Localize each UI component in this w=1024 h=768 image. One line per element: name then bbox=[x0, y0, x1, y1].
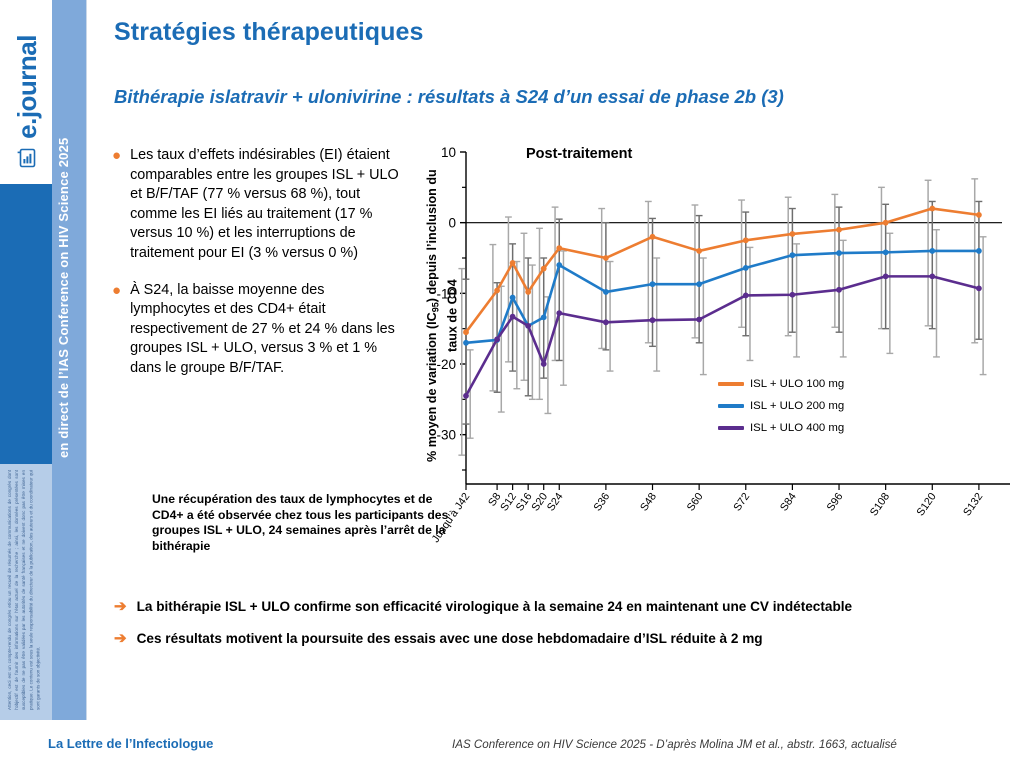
svg-text:-20: -20 bbox=[436, 357, 456, 372]
legend-swatch-200mg bbox=[718, 404, 744, 408]
left-sidebar: e.journal en direct de l’IAS Conference … bbox=[0, 0, 86, 768]
svg-text:10: 10 bbox=[441, 145, 456, 160]
bullet-dot-icon: ● bbox=[112, 281, 121, 379]
conclusion-text: Ces résultats motivent la poursuite des … bbox=[137, 630, 763, 648]
ejournal-logo: e.journal bbox=[6, 14, 48, 174]
page-title: Stratégies thérapeutiques bbox=[114, 18, 424, 47]
highlight-note: Une récupération des taux de lymphocytes… bbox=[152, 492, 452, 554]
bullet-dot-icon: ● bbox=[112, 146, 121, 264]
list-item: ● Les taux d’effets indésirables (EI) ét… bbox=[112, 146, 402, 264]
chart-legend: ISL + ULO 100 mg ISL + ULO 200 mg ISL + … bbox=[718, 378, 844, 444]
footer-brand: La Lettre de l’Infectiologue bbox=[48, 736, 213, 751]
legend-label-200mg: ISL + ULO 200 mg bbox=[750, 400, 844, 412]
svg-text:Jusqu’à J42: Jusqu’à J42 bbox=[430, 491, 473, 545]
legend-item: ISL + ULO 400 mg bbox=[718, 422, 844, 434]
svg-text:S96: S96 bbox=[825, 491, 846, 514]
ejournal-wordmark: e.journal bbox=[14, 35, 40, 139]
legend-label-400mg: ISL + ULO 400 mg bbox=[750, 422, 844, 434]
footer-divider bbox=[0, 720, 1024, 721]
svg-text:S120: S120 bbox=[914, 491, 938, 519]
legend-swatch-400mg bbox=[718, 426, 744, 430]
footer-source: IAS Conference on HIV Science 2025 - D’a… bbox=[452, 738, 897, 751]
bullet-text: Les taux d’effets indésirables (EI) étai… bbox=[130, 146, 402, 264]
page-subtitle: Bithérapie islatravir + ulonivirine : ré… bbox=[114, 86, 1014, 108]
svg-text:S84: S84 bbox=[778, 491, 799, 514]
svg-text:S24: S24 bbox=[545, 491, 566, 514]
svg-text:S132: S132 bbox=[961, 491, 985, 519]
svg-text:-10: -10 bbox=[436, 286, 456, 301]
conference-vertical-label: en direct de l’IAS Conference on HIV Sci… bbox=[56, 8, 71, 458]
svg-text:S48: S48 bbox=[638, 491, 659, 514]
document-chart-icon bbox=[16, 147, 38, 174]
sidebar-blue-block bbox=[0, 184, 52, 464]
legend-item: ISL + ULO 100 mg bbox=[718, 378, 844, 390]
chart-canvas: 100-10-20-30Jusqu’à J42S8S12S16S20S24S36… bbox=[418, 140, 1018, 550]
list-item: ● À S24, la baisse moyenne des lymphocyt… bbox=[112, 281, 402, 379]
conclusion-text: La bithérapie ISL + ULO confirme son eff… bbox=[137, 598, 853, 616]
svg-text:0: 0 bbox=[448, 216, 456, 231]
arrow-right-icon: ➔ bbox=[114, 598, 127, 616]
svg-text:-30: -30 bbox=[436, 428, 456, 443]
cd4-change-chart: Post-traitement % moyen de variation (IC… bbox=[418, 140, 1018, 550]
arrow-right-icon: ➔ bbox=[114, 630, 127, 648]
svg-text:S108: S108 bbox=[868, 491, 892, 519]
svg-text:S60: S60 bbox=[685, 491, 706, 514]
svg-text:S36: S36 bbox=[591, 491, 612, 514]
disclaimer-vertical-text: Attention, ceci est un compte-rendu de c… bbox=[6, 470, 50, 710]
sidebar-divider bbox=[86, 0, 87, 720]
list-item: ➔ La bithérapie ISL + ULO confirme son e… bbox=[114, 598, 1014, 616]
list-item: ➔ Ces résultats motivent la poursuite de… bbox=[114, 630, 1014, 648]
bullet-text: À S24, la baisse moyenne des lymphocytes… bbox=[130, 281, 402, 379]
legend-label-100mg: ISL + ULO 100 mg bbox=[750, 378, 844, 390]
bullet-list: ● Les taux d’effets indésirables (EI) ét… bbox=[112, 146, 402, 396]
legend-item: ISL + ULO 200 mg bbox=[718, 400, 844, 412]
conclusion-list: ➔ La bithérapie ISL + ULO confirme son e… bbox=[114, 598, 1014, 661]
svg-text:S72: S72 bbox=[731, 491, 752, 514]
legend-swatch-100mg bbox=[718, 382, 744, 386]
